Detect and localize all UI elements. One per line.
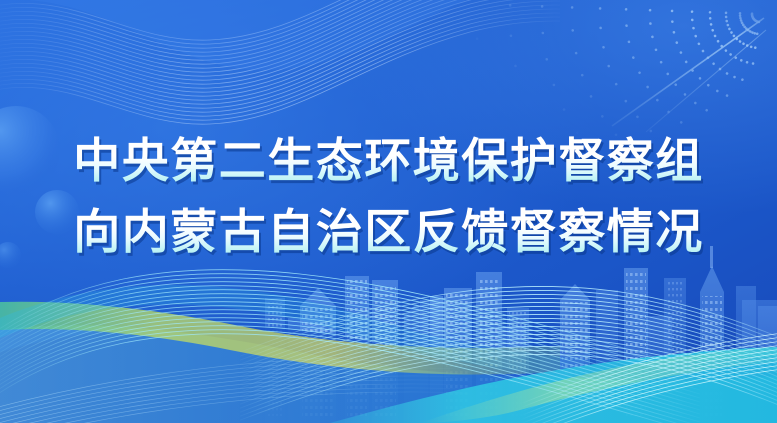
banner-graphic: 中央第二生态环境保护督察组 向内蒙古自治区反馈督察情况 bbox=[0, 0, 777, 423]
lower-left-fine-lines bbox=[0, 0, 777, 423]
